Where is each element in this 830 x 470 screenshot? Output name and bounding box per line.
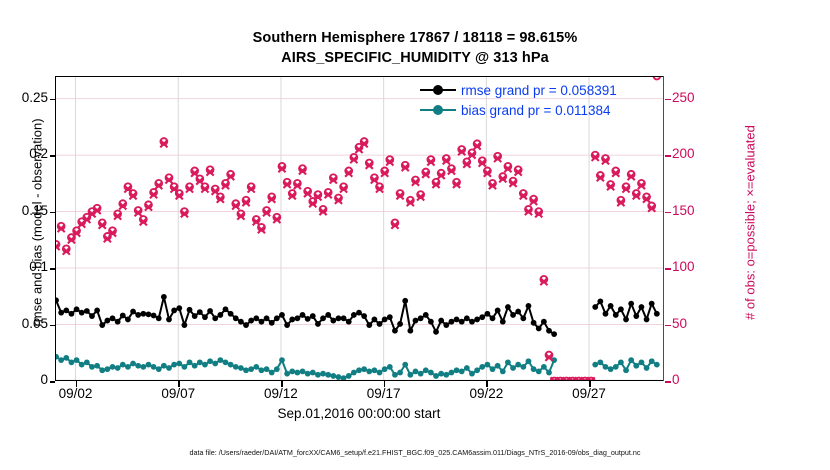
left-tick-label: 0.1 xyxy=(2,259,48,274)
right-tick-mark xyxy=(665,325,671,327)
right-tick-label: 50 xyxy=(672,316,722,331)
left-tick-mark xyxy=(50,99,55,101)
title-line-2: AIRS_SPECIFIC_HUMIDITY @ 313 hPa xyxy=(0,48,830,68)
x-tick-label: 09/07 xyxy=(143,386,213,401)
left-tick-label: 0.05 xyxy=(2,316,48,331)
bias-marker-icon xyxy=(420,103,456,117)
x-tick-mark xyxy=(281,381,283,387)
x-tick-mark xyxy=(76,381,78,387)
rmse-marker-icon xyxy=(420,83,456,97)
legend-item-rmse[interactable]: rmse grand pr = 0.058391 xyxy=(420,80,660,100)
left-tick-label: 0.2 xyxy=(2,146,48,161)
right-tick-mark xyxy=(665,99,671,101)
right-tick-label: 200 xyxy=(672,146,722,161)
x-tick-label: 09/17 xyxy=(349,386,419,401)
x-tick-mark xyxy=(589,381,591,387)
x-axis-label: Sep.01,2016 00:00:00 start xyxy=(55,406,663,421)
legend-label-bias: bias grand pr = 0.011384 xyxy=(461,103,611,118)
right-tick-label: 150 xyxy=(672,203,722,218)
right-axis-label: # of obs: o=possible; ×=evaluated xyxy=(743,73,758,373)
right-axis-spine xyxy=(663,76,665,381)
left-tick-mark xyxy=(50,212,55,214)
right-tick-mark xyxy=(665,268,671,270)
left-tick-mark xyxy=(50,268,55,270)
x-tick-label: 09/12 xyxy=(246,386,316,401)
right-tick-label: 250 xyxy=(672,90,722,105)
plot-area xyxy=(55,76,663,380)
figure-canvas: Southern Hemisphere 17867 / 18118 = 98.6… xyxy=(0,0,830,470)
x-tick-label: 09/27 xyxy=(554,386,624,401)
x-tick-label: 09/02 xyxy=(41,386,111,401)
right-tick-label: 0 xyxy=(672,372,722,387)
chart-legend: rmse grand pr = 0.058391 bias grand pr =… xyxy=(420,80,660,120)
data-file-footer: data file: /Users/raeder/DAI/ATM_forcXX/… xyxy=(0,448,830,457)
left-tick-mark xyxy=(50,325,55,327)
x-tick-mark xyxy=(486,381,488,387)
legend-item-bias[interactable]: bias grand pr = 0.011384 xyxy=(420,100,660,120)
chart-title: Southern Hemisphere 17867 / 18118 = 98.6… xyxy=(0,28,830,68)
left-tick-mark xyxy=(50,155,55,157)
left-tick-label: 0 xyxy=(2,372,48,387)
right-tick-mark xyxy=(665,155,671,157)
right-tick-mark xyxy=(665,212,671,214)
right-tick-mark xyxy=(665,381,671,383)
left-tick-label: 0.25 xyxy=(2,90,48,105)
legend-label-rmse: rmse grand pr = 0.058391 xyxy=(461,83,617,98)
x-tick-label: 09/22 xyxy=(451,386,521,401)
x-tick-mark xyxy=(178,381,180,387)
chart-svg xyxy=(55,76,663,381)
title-line-1: Southern Hemisphere 17867 / 18118 = 98.6… xyxy=(0,28,830,48)
left-tick-label: 0.15 xyxy=(2,203,48,218)
x-tick-mark xyxy=(384,381,386,387)
right-tick-label: 100 xyxy=(672,259,722,274)
left-tick-mark xyxy=(50,381,55,383)
